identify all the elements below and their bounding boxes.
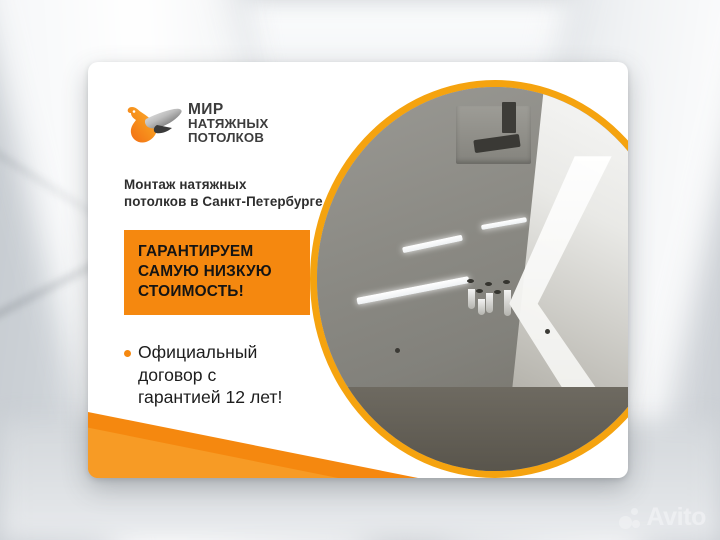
photo-air-conditioner [456, 106, 531, 164]
logo-line-1: МИР [188, 102, 269, 118]
subtitle-line-1: Монтаж натяжных [124, 177, 247, 192]
ceiling-photo-disc [310, 80, 628, 478]
service-subtitle: Монтаж натяжных потолков в Санкт-Петербу… [124, 176, 332, 210]
promo-line-2: САМУЮ НИЗКУЮ [138, 262, 297, 282]
photo-lower-wall [317, 387, 628, 471]
company-logo[interactable]: МИР НАТЯЖНЫХ ПОТОЛКОВ [124, 92, 332, 154]
subtitle-line-2: потолков в Санкт-Петербурге [124, 194, 323, 209]
card-content-column: МИР НАТЯЖНЫХ ПОТОЛКОВ Монтаж натяжных по… [124, 92, 332, 409]
dove-bird-icon [124, 98, 184, 148]
bullet-line-1: Официальный [138, 342, 257, 362]
logo-line-2: НАТЯЖНЫХ [188, 117, 269, 130]
promo-line-1: ГАРАНТИРУЕМ [138, 242, 297, 262]
bullet-line-3: гарантией 12 лет! [138, 387, 282, 407]
ceiling-photo [317, 87, 628, 471]
avito-wordmark: Avito [646, 505, 706, 530]
bullet-line-2: договор с [138, 365, 216, 385]
photo-chandelier [459, 279, 530, 363]
guarantee-bullet: Официальный договор с гарантией 12 лет! [124, 341, 332, 409]
promo-banner: ГАРАНТИРУЕМ САМУЮ НИЗКУЮ СТОИМОСТЬ! [124, 230, 310, 315]
advert-card[interactable]: МИР НАТЯЖНЫХ ПОТОЛКОВ Монтаж натяжных по… [88, 62, 628, 478]
avito-logo-icon [619, 507, 641, 529]
avito-watermark: Avito [619, 505, 706, 530]
logo-line-3: ПОТОЛКОВ [188, 131, 269, 144]
photo-ac-vent-2 [502, 102, 516, 133]
promo-line-3: СТОИМОСТЬ! [138, 282, 297, 302]
